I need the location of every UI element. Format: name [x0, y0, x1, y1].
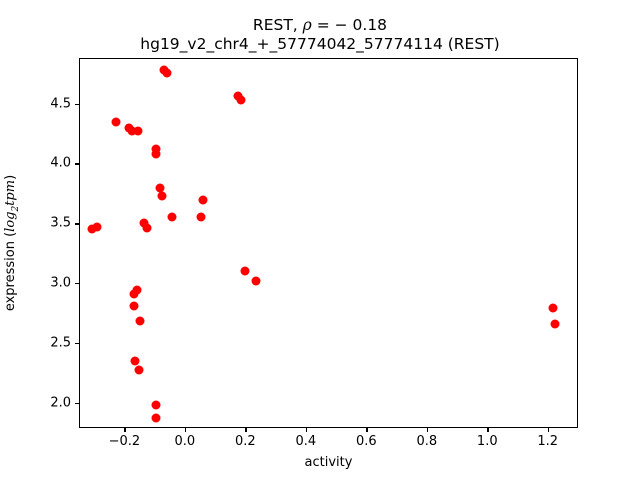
- x-tick-mark: [487, 428, 488, 432]
- data-point: [129, 301, 138, 310]
- x-tick-label: 0.4: [295, 434, 316, 449]
- data-point: [196, 213, 205, 222]
- x-tick-mark: [366, 428, 367, 432]
- y-label-log: log: [3, 212, 18, 232]
- data-point: [168, 213, 177, 222]
- data-point: [252, 276, 261, 285]
- data-point: [134, 126, 143, 135]
- y-label-suffix: ): [3, 175, 18, 180]
- chart-title-line2: hg19_v2_chr4_+_57774042_57774114 (REST): [0, 35, 640, 54]
- y-tick-label: 2.0: [50, 395, 71, 410]
- data-point: [199, 196, 208, 205]
- title-suffix: = − 0.18: [312, 16, 387, 34]
- data-point: [143, 223, 152, 232]
- y-tick-mark: [75, 283, 79, 284]
- x-tick-label: 1.2: [537, 434, 558, 449]
- x-tick-mark: [185, 428, 186, 432]
- data-point: [151, 149, 160, 158]
- title-prefix: REST,: [253, 16, 303, 34]
- data-point: [111, 118, 120, 127]
- data-point: [241, 266, 250, 275]
- y-label-tpm: tpm: [3, 180, 18, 206]
- data-point: [151, 401, 160, 410]
- x-tick-mark: [548, 428, 549, 432]
- y-tick-label: 4.0: [50, 156, 71, 171]
- x-axis-label: activity: [79, 455, 578, 470]
- y-tick-label: 3.0: [50, 276, 71, 291]
- data-point: [549, 304, 558, 313]
- x-tick-label: 0.8: [416, 434, 437, 449]
- y-tick-mark: [75, 223, 79, 224]
- x-tick-mark: [124, 428, 125, 432]
- data-point: [157, 191, 166, 200]
- data-point: [162, 69, 171, 78]
- plot-data-area: [80, 59, 577, 427]
- y-label-sub: 2: [11, 206, 21, 212]
- y-tick-mark: [75, 403, 79, 404]
- y-tick-label: 4.5: [50, 96, 71, 111]
- rho-symbol: ρ: [303, 16, 312, 34]
- x-tick-mark: [306, 428, 307, 432]
- y-tick-mark: [75, 163, 79, 164]
- y-tick-label: 3.5: [50, 216, 71, 231]
- data-point: [152, 414, 161, 423]
- data-point: [130, 289, 139, 298]
- data-point: [550, 319, 559, 328]
- y-label-prefix: expression (: [3, 232, 18, 311]
- data-point: [92, 222, 101, 231]
- y-tick-mark: [75, 343, 79, 344]
- y-tick-label: 2.5: [50, 335, 71, 350]
- y-tick-mark: [75, 104, 79, 105]
- x-tick-label: 1.0: [477, 434, 498, 449]
- scatter-plot-figure: REST, ρ = − 0.18 hg19_v2_chr4_+_57774042…: [0, 0, 640, 480]
- x-tick-label: −0.2: [109, 434, 141, 449]
- chart-title-line1: REST, ρ = − 0.18: [0, 16, 640, 35]
- plot-axes-frame: [79, 58, 578, 428]
- data-point: [237, 95, 246, 104]
- x-tick-label: 0.6: [356, 434, 377, 449]
- data-point: [134, 366, 143, 375]
- x-tick-label: 0.2: [235, 434, 256, 449]
- data-point: [135, 317, 144, 326]
- x-tick-mark: [427, 428, 428, 432]
- data-point: [131, 356, 140, 365]
- y-axis-label: expression (log2tpm): [3, 175, 21, 311]
- chart-title: REST, ρ = − 0.18 hg19_v2_chr4_+_57774042…: [0, 16, 640, 54]
- x-tick-label: 0.0: [175, 434, 196, 449]
- x-tick-mark: [245, 428, 246, 432]
